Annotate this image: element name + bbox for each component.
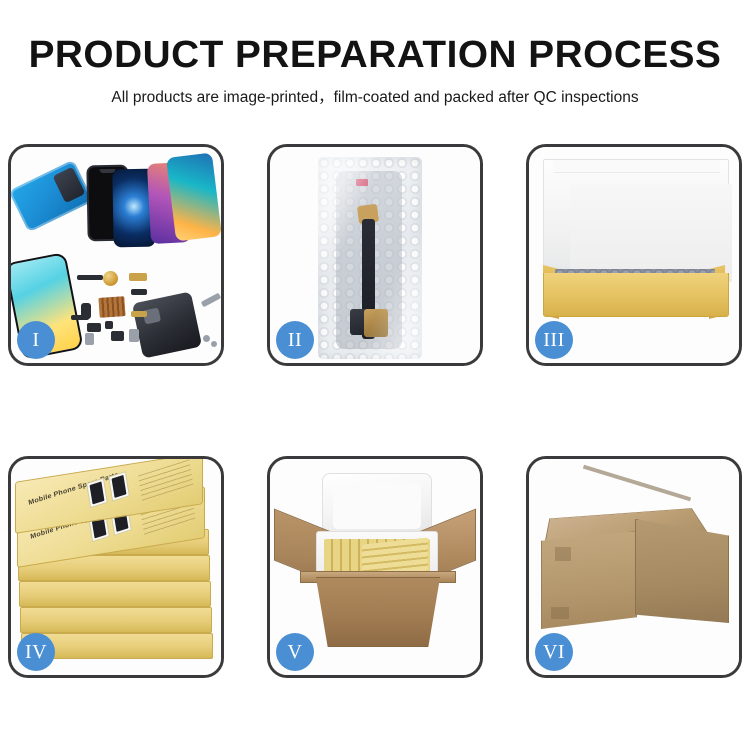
page-subtitle: All products are image-printed，film-coat… xyxy=(0,90,750,106)
process-step-grid: I II xyxy=(8,144,742,678)
part-flex-icon xyxy=(71,315,89,320)
foam-lid-icon xyxy=(322,473,432,539)
product-preparation-page: PRODUCT PREPARATION PROCESS All products… xyxy=(0,0,750,750)
phone-print-image xyxy=(108,471,130,502)
carton-flap-mark xyxy=(555,547,571,561)
process-step-panel-3[interactable]: III xyxy=(526,144,742,366)
carton-flap-mark xyxy=(551,607,569,619)
lcd-backing-icon xyxy=(9,160,94,233)
phone-print-image xyxy=(86,478,108,509)
step-badge: V xyxy=(276,633,314,671)
retail-box-spec-lines xyxy=(138,459,194,504)
bag-sheen xyxy=(318,157,422,359)
process-step-panel-4[interactable]: Mobile Phone Spare Parts Mobile Phone Sp… xyxy=(8,456,224,678)
process-step-panel-5[interactable]: V xyxy=(267,456,483,678)
part-flex-icon xyxy=(131,311,147,317)
box-lid-icon xyxy=(543,159,729,275)
screw-icon xyxy=(211,341,217,347)
box-tray-icon xyxy=(543,273,729,317)
box-inner-surface xyxy=(570,184,732,282)
camera-module-icon xyxy=(103,271,118,286)
phone-screen-teal-icon xyxy=(166,153,222,242)
bubble-wrap-bag xyxy=(318,157,422,359)
retail-box-stack: Mobile Phone Spare Parts Mobile Phone Sp… xyxy=(15,475,221,661)
part-sim-tray-icon xyxy=(85,333,94,345)
part-speaker-icon xyxy=(111,331,124,341)
step-badge: II xyxy=(276,321,314,359)
screw-icon xyxy=(203,335,210,342)
part-chip-icon xyxy=(105,321,113,329)
carton-side-face xyxy=(635,519,729,623)
page-title: PRODUCT PREPARATION PROCESS xyxy=(0,36,750,74)
step-badge: IV xyxy=(17,633,55,671)
part-chip-icon xyxy=(77,275,103,280)
step-badge: III xyxy=(535,321,573,359)
part-chip-icon xyxy=(131,289,147,295)
process-step-panel-2[interactable]: II xyxy=(267,144,483,366)
phone-backplate-icon xyxy=(132,291,202,358)
part-connector-icon xyxy=(129,329,139,342)
retail-box-layer xyxy=(20,607,212,633)
logic-board-icon xyxy=(98,296,125,318)
carton-tape-seam xyxy=(583,465,691,502)
process-step-panel-6[interactable]: VI xyxy=(526,456,742,678)
tweezers-icon xyxy=(201,293,221,308)
header: PRODUCT PREPARATION PROCESS All products… xyxy=(0,0,750,106)
part-gold-icon xyxy=(129,273,147,281)
step-badge: I xyxy=(17,321,55,359)
retail-box-layer xyxy=(19,581,211,607)
process-step-panel-1[interactable]: I xyxy=(8,144,224,366)
carton-body-icon xyxy=(304,577,452,647)
part-chip-icon xyxy=(87,323,101,332)
step-badge: VI xyxy=(535,633,573,671)
